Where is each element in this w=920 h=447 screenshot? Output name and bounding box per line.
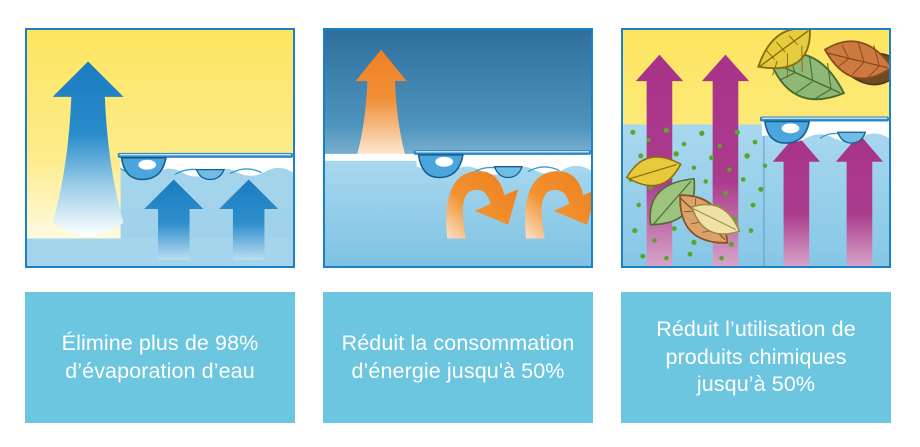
energy-scene [325,30,591,266]
covered-section-divider [763,124,765,266]
caption-text-chemicals: Réduit l’utilisation de produits chimiqu… [629,316,883,399]
pool-cover-reel-highlight [435,157,453,167]
pool-cover-benefits-infographic: Élimine plus de 98% d’évaporation d’eau [0,0,920,447]
evaporation-scene [27,30,293,266]
caption-chemicals: Réduit l’utilisation de produits chimiqu… [621,292,891,423]
caption-text-energy: Réduit la consommation d’énergie jusqu'à… [331,330,585,385]
water-surface-left-band [325,154,419,161]
caption-text-evaporation: Élimine plus de 98% d’évaporation d’eau [33,330,287,385]
illustration-evaporation [25,28,295,268]
pool-cover-bar-highlight [762,118,887,120]
illustration-energy [323,28,593,268]
caption-evaporation: Élimine plus de 98% d’évaporation d’eau [25,292,295,423]
pool-cover-reel-highlight [782,123,800,133]
pool-cover-bar-highlight [120,154,291,156]
pool-cover-reel-highlight [138,160,156,170]
chemicals-scene [623,30,889,266]
pool-cover-bar-highlight [416,151,589,153]
illustration-chemicals [621,28,891,268]
caption-energy: Réduit la consommation d’énergie jusqu'à… [323,292,593,423]
